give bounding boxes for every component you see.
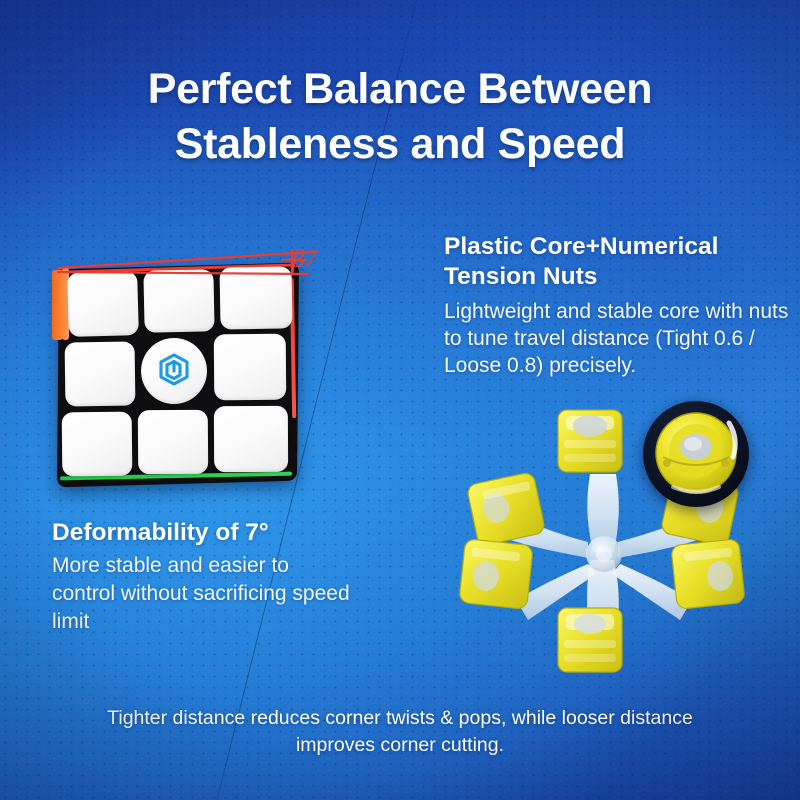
- tension-nut-top: [558, 410, 622, 472]
- cube-sticker: [214, 334, 287, 401]
- tension-nut-upper-left: [466, 472, 545, 547]
- headline-line-1: Perfect Balance Between: [148, 65, 653, 113]
- feature-title-core-line2: Tension Nuts: [444, 263, 597, 290]
- feature-title-core: Plastic Core+Numerical Tension Nuts: [444, 232, 792, 293]
- tension-nut-lower-left: [459, 539, 533, 610]
- cube-center-logo-tile: [141, 338, 207, 404]
- cube-sticker: [214, 406, 288, 472]
- product-feature-panel: Perfect Balance Between Stableness and S…: [0, 0, 800, 800]
- angle-value-label: β7: [292, 246, 317, 274]
- feature-title-deformability: Deformability of 7°: [52, 518, 352, 548]
- cube-sticker: [219, 266, 292, 329]
- cube-sticker: [65, 342, 136, 407]
- tension-nut-lower-right: [671, 539, 745, 610]
- page-title: Perfect Balance Between Stableness and S…: [0, 62, 800, 172]
- gan-logo-icon: [154, 351, 194, 391]
- cube-sticker: [67, 271, 139, 337]
- nut-detail-graphic: [643, 401, 749, 507]
- feature-title-core-line1: Plastic Core+Numerical: [444, 233, 718, 260]
- feature-block-deformability: Deformability of 7° More stable and easi…: [52, 518, 352, 636]
- rubiks-cube-illustration: [52, 262, 312, 492]
- cube-sticker: [143, 269, 214, 332]
- tension-nut-bottom: [558, 608, 622, 672]
- feature-block-core: Plastic Core+Numerical Tension Nuts Ligh…: [444, 232, 792, 380]
- feature-body-deformability: More stable and easier to control withou…: [52, 552, 352, 635]
- cube-sticker: [62, 412, 133, 477]
- headline-line-2: Stableness and Speed: [0, 117, 800, 172]
- feature-body-core: Lightweight and stable core with nuts to…: [444, 298, 792, 380]
- nut-magnifier-inset: [643, 401, 749, 507]
- cube-sticker: [138, 410, 208, 474]
- footer-caption: Tighter distance reduces corner twists &…: [100, 705, 700, 758]
